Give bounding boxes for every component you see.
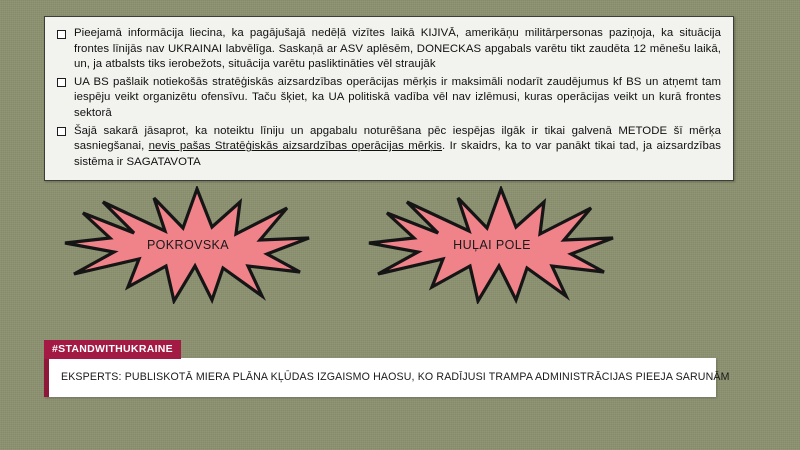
bullet-text: Šajā sakarā jāsaprot, ka noteiktu līniju…: [74, 124, 721, 171]
bullet-list: Pieejamā informācija liecina, ka pagājuš…: [55, 26, 721, 170]
starburst-label-pokrovska: POKROVSKA: [62, 238, 314, 252]
bullet-text-segment: UA BS pašlaik notiekošās stratēģiskās ai…: [74, 76, 721, 119]
bullet-item: Šajā sakarā jāsaprot, ka noteiktu līniju…: [55, 124, 721, 171]
bullet-item: UA BS pašlaik notiekošās stratēģiskās ai…: [55, 75, 721, 122]
news-banner: #STANDWITHUKRAINE EKSPERTS: PUBLISKOTĀ M…: [44, 339, 716, 397]
bullet-text: Pieejamā informācija liecina, ka pagājuš…: [74, 26, 721, 73]
checkbox-bullet-icon: [57, 78, 66, 87]
banner-headline: EKSPERTS: PUBLISKOTĀ MIERA PLĀNA KĻŪDAS …: [61, 370, 706, 384]
bullet-text: UA BS pašlaik notiekošās stratēģiskās ai…: [74, 75, 721, 122]
starburst-label-hulai-pole: HUĻAI POLE: [366, 238, 618, 252]
hashtag-badge: #STANDWITHUKRAINE: [44, 340, 181, 359]
starburst-pokrovska: POKROVSKA: [62, 186, 314, 304]
bullet-text-segment: Pieejamā informācija liecina, ka pagājuš…: [74, 27, 721, 70]
starburst-hulai-pole: HUĻAI POLE: [366, 186, 618, 304]
bullet-text-panel: Pieejamā informācija liecina, ka pagājuš…: [44, 16, 734, 181]
bullet-item: Pieejamā informācija liecina, ka pagājuš…: [55, 26, 721, 73]
banner-body: EKSPERTS: PUBLISKOTĀ MIERA PLĀNA KĻŪDAS …: [44, 358, 716, 397]
checkbox-bullet-icon: [57, 30, 66, 39]
bullet-text-underlined: nevis pašas Stratēģiskās aizsardzības op…: [149, 140, 442, 152]
presentation-slide: Pieejamā informācija liecina, ka pagājuš…: [0, 0, 800, 450]
checkbox-bullet-icon: [57, 127, 66, 136]
